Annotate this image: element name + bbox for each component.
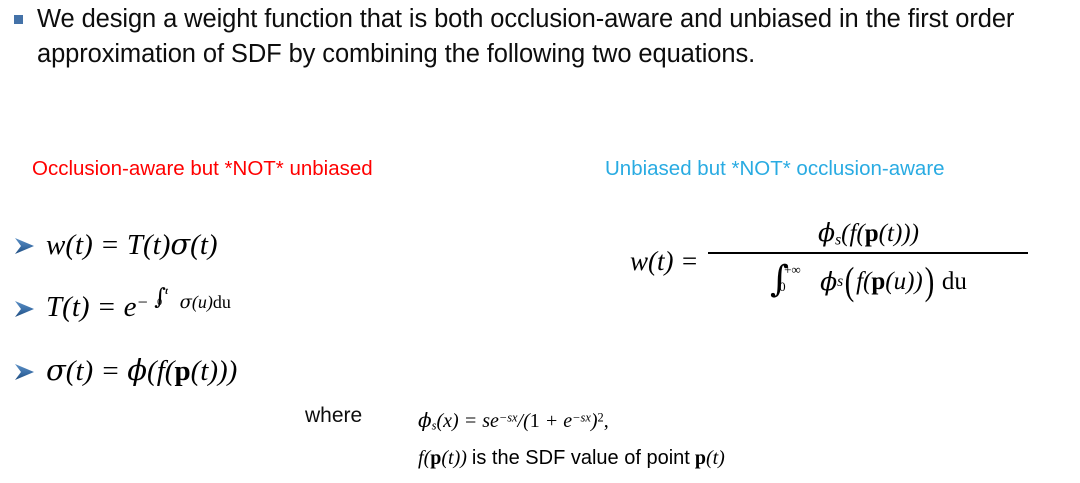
equation-row-density: σ(t) = ϕ(f(p(t))) [12,339,412,402]
equation-row-transmittance: T(t) = e− ∫0t σ(u)du [12,276,412,339]
arrow-bullet-icon [12,233,38,259]
arrow-bullet-icon [12,296,38,322]
equation-row-weight: w(t) = T(t)σ(t) [12,213,412,276]
fraction-numerator: ϕs(f(p(t))) [808,218,929,252]
equation-unbiased-lhs: w(t) = [630,246,698,277]
where-label: where [305,404,362,428]
bullet-paragraph: We design a weight function that is both… [14,2,1074,72]
heading-unbiased-not-occlusion-aware: Unbiased but *NOT* occlusion-aware [605,157,945,181]
where-sdf-text: is the SDF value of point [472,447,690,469]
equation-unbiased-weight: w(t) = ϕs(f(p(t))) ∫0+∞ ϕs (f(p(u))) du [630,218,1028,304]
where-definition-sdf: f(p(t)) is the SDF value of point p(t) [418,447,725,470]
arrow-bullet-icon [12,359,38,385]
equation-transmittance: T(t) = e− ∫0t σ(u)du [46,291,231,324]
left-equation-list: w(t) = T(t)σ(t) T(t) = e− ∫0t σ(u)du σ(t… [12,213,412,402]
equation-weight: w(t) = T(t)σ(t) [46,227,218,262]
square-bullet-icon [14,15,23,24]
heading-occlusion-aware-not-unbiased: Occlusion-aware but *NOT* unbiased [32,157,373,181]
bullet-paragraph-text: We design a weight function that is both… [37,2,1057,72]
fraction-denominator: ∫0+∞ ϕs (f(p(u))) du [764,254,973,304]
fraction: ϕs(f(p(t))) ∫0+∞ ϕs (f(p(u))) du [708,218,1028,304]
equation-density: σ(t) = ϕ(f(p(t))) [46,353,237,388]
where-definition-phi: ϕs(x) = se−sx/(1 + e−sx)2, [418,408,609,434]
